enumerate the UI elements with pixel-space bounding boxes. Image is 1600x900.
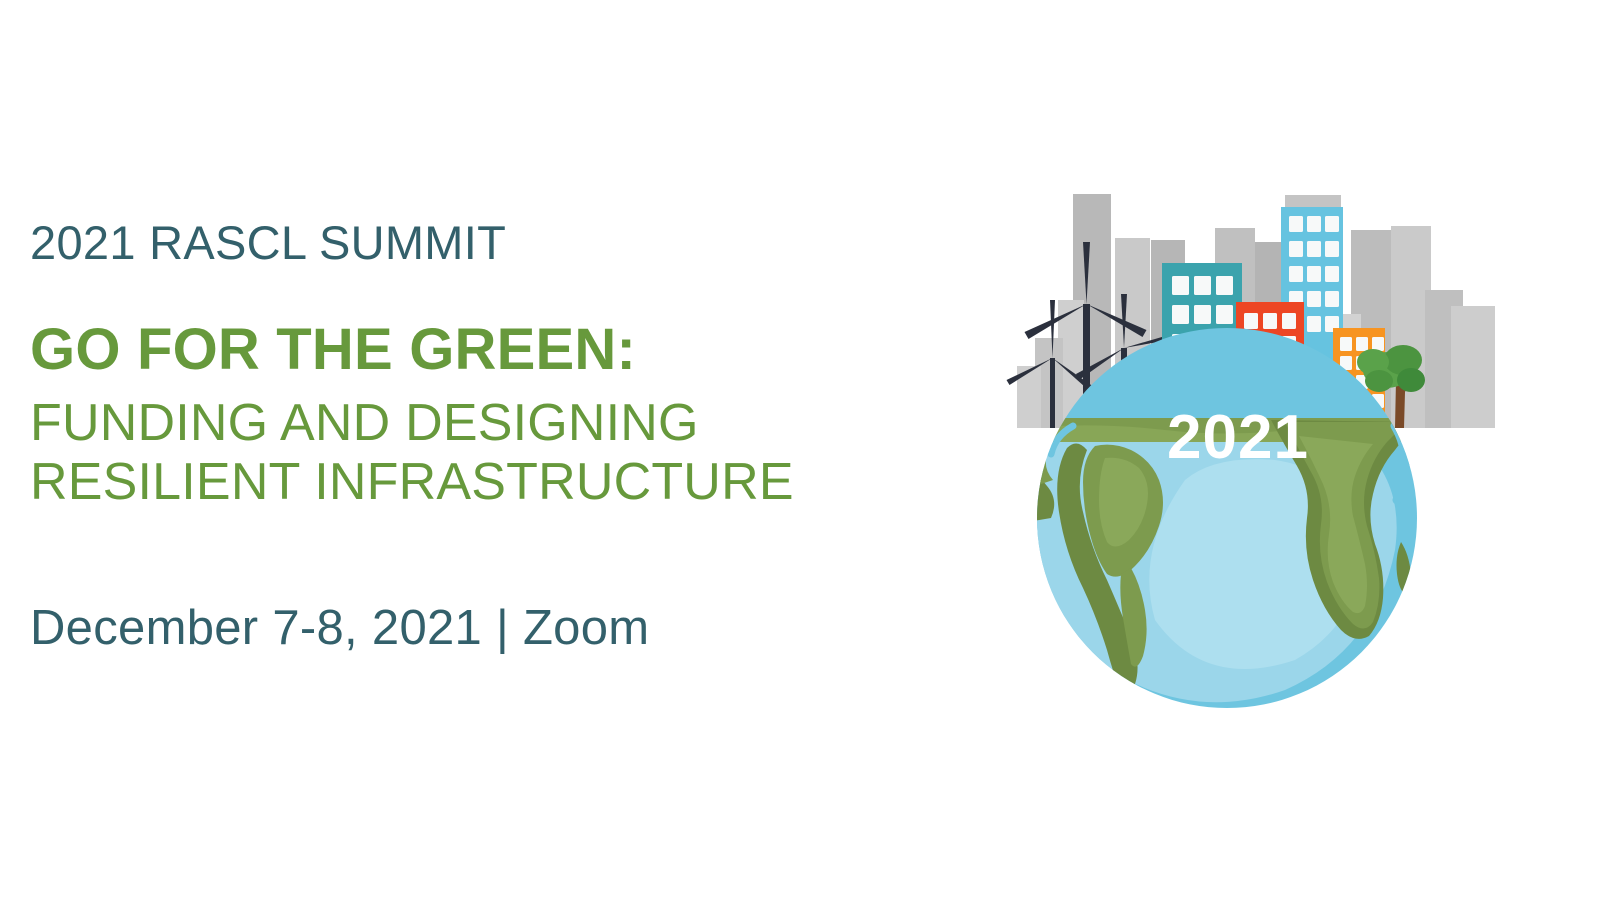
green-city-globe-illustration: 2021: [955, 150, 1500, 710]
headline-primary: GO FOR THE GREEN:: [30, 319, 930, 382]
event-date-venue: December 7-8, 2021 | Zoom: [30, 603, 930, 654]
event-eyebrow-title: 2021 RASCL SUMMIT: [30, 218, 930, 267]
headline-secondary-line-1: FUNDING AND DESIGNING: [30, 394, 930, 453]
year-overlay-text: 2021: [1167, 403, 1309, 472]
headline-secondary-line-2: RESILIENT INFRASTRUCTURE: [30, 453, 930, 512]
headline-group: GO FOR THE GREEN: FUNDING AND DESIGNING …: [30, 319, 930, 511]
text-content-block: 2021 RASCL SUMMIT GO FOR THE GREEN: FUND…: [30, 218, 930, 655]
summit-promo-banner: 2021 RASCL SUMMIT GO FOR THE GREEN: FUND…: [0, 0, 1600, 900]
